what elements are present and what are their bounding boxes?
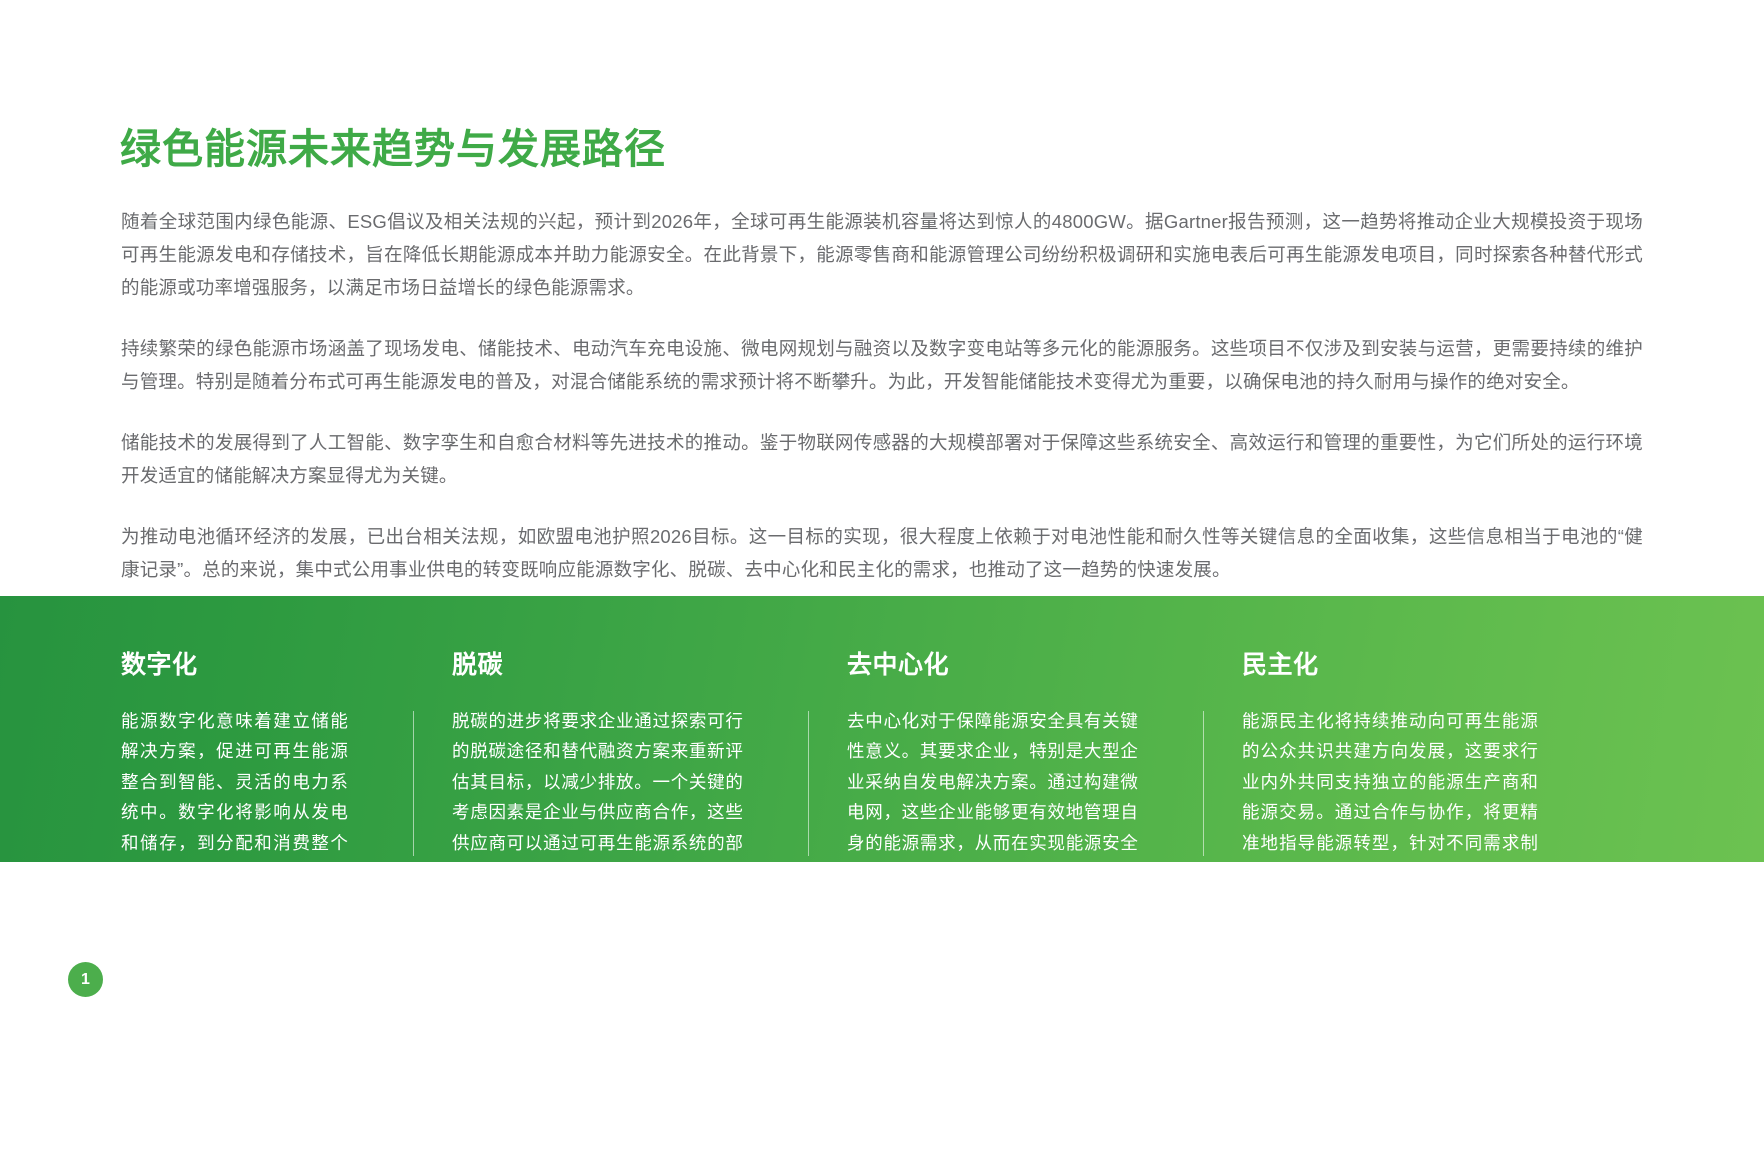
body-text-block: 随着全球范围内绿色能源、ESG倡议及相关法规的兴起，预计到2026年，全球可再生…: [121, 205, 1643, 586]
paragraph-2: 持续繁荣的绿色能源市场涵盖了现场发电、储能技术、电动汽车充电设施、微电网规划与融…: [121, 332, 1643, 398]
column-heading-decarbonization: 脱碳: [452, 652, 743, 680]
paragraph-1: 随着全球范围内绿色能源、ESG倡议及相关法规的兴起，预计到2026年，全球可再生…: [121, 205, 1643, 304]
column-heading-democratization: 民主化: [1242, 652, 1538, 680]
column-text-digitalization: 能源数字化意味着建立储能解决方案，促进可再生能源整合到智能、灵活的电力系统中。数…: [121, 706, 348, 981]
column-text-democratization: 能源民主化将持续推动向可再生能源的公众共识共建方向发展，这要求行业内外共同支持独…: [1242, 706, 1538, 920]
paragraph-3: 储能技术的发展得到了人工智能、数字孪生和自愈合材料等先进技术的推动。鉴于物联网传…: [121, 426, 1643, 492]
column-heading-digitalization: 数字化: [121, 652, 348, 680]
panel-column-democratization: 民主化 能源民主化将持续推动向可再生能源的公众共识共建方向发展，这要求行业内外共…: [1182, 596, 1582, 862]
document-page: 绿色能源未来趋势与发展路径 随着全球范围内绿色能源、ESG倡议及相关法规的兴起，…: [0, 0, 1764, 1172]
panel-columns: 数字化 能源数字化意味着建立储能解决方案，促进可再生能源整合到智能、灵活的电力系…: [0, 596, 1764, 862]
page-title: 绿色能源未来趋势与发展路径: [120, 125, 666, 174]
column-text-decarbonization: 脱碳的进步将要求企业通过探索可行的脱碳途径和替代融资方案来重新评估其目标，以减少…: [452, 706, 743, 920]
panel-column-decentralization: 去中心化 去中心化对于保障能源安全具有关键性意义。其要求企业，特别是大型企业采纳…: [787, 596, 1182, 862]
panel-column-digitalization: 数字化 能源数字化意味着建立储能解决方案，促进可再生能源整合到智能、灵活的电力系…: [0, 596, 392, 862]
panel-column-decarbonization: 脱碳 脱碳的进步将要求企业通过探索可行的脱碳途径和替代融资方案来重新评估其目标，…: [392, 596, 787, 862]
column-heading-decentralization: 去中心化: [847, 652, 1138, 680]
paragraph-4: 为推动电池循环经济的发展，已出台相关法规，如欧盟电池护照2026目标。这一目标的…: [121, 520, 1643, 586]
column-text-decentralization: 去中心化对于保障能源安全具有关键性意义。其要求企业，特别是大型企业采纳自发电解决…: [847, 706, 1138, 920]
green-highlight-panel: 数字化 能源数字化意味着建立储能解决方案，促进可再生能源整合到智能、灵活的电力系…: [0, 596, 1764, 862]
page-number-badge: 1: [68, 962, 103, 997]
